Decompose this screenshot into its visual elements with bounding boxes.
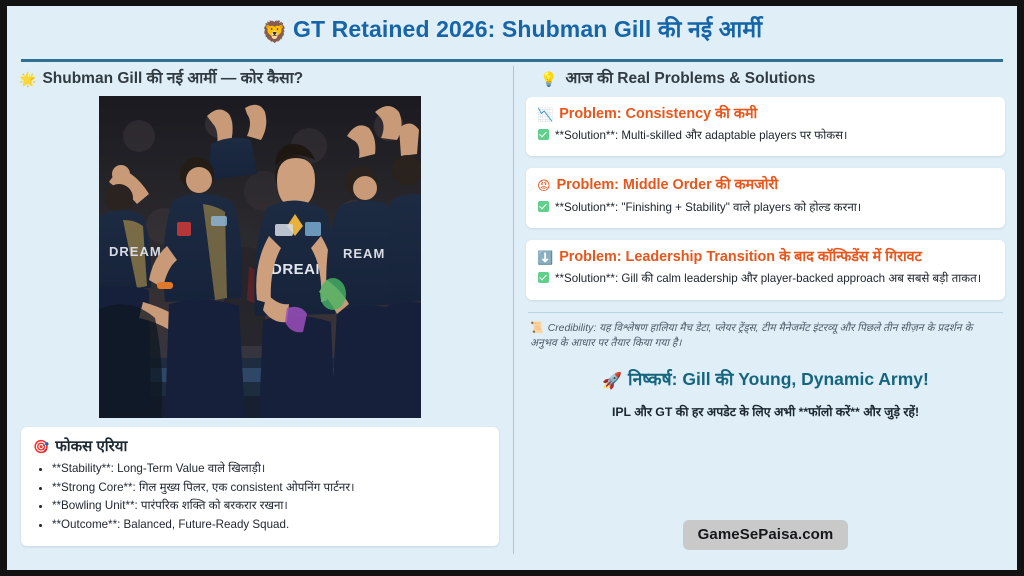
check-icon — [538, 272, 549, 283]
chart-decreasing-icon: 📉 — [537, 107, 553, 122]
conclusion-block: 🚀निष्कर्ष: Gill की Young, Dynamic Army! … — [526, 369, 1005, 421]
rocket-icon: 🚀 — [602, 373, 622, 390]
left-section-heading: 🌟Shubman Gill की नई आर्मी — कोर कैसा? — [19, 70, 503, 89]
arrow-down-icon: ⬇️ — [537, 250, 553, 265]
problem-card: 📉Problem: Consistency की कमी **Solution*… — [526, 97, 1005, 157]
solution-line: **Solution**: Multi-skilled और adaptable… — [537, 127, 993, 144]
team-photo: DREAM — [99, 96, 421, 418]
focus-area-title-text: फोकस एरिया — [55, 438, 127, 455]
credibility-note: 📜Credibility: यह विश्लेषण हालिया मैच डेट… — [526, 320, 1005, 352]
right-section-heading: 💡आज की Real Problems & Solutions — [540, 70, 1005, 89]
focus-area-title: 🎯फोकस एरिया — [33, 436, 487, 456]
solution-text: **Solution**: Multi-skilled और adaptable… — [555, 129, 847, 142]
problem-title-text: Problem: Consistency की कमी — [559, 106, 757, 122]
focus-area-list: **Stability**: Long-Term Value वाले खिला… — [33, 460, 487, 535]
check-icon — [538, 129, 549, 140]
scroll-icon: 📜 — [530, 322, 544, 334]
sun-icon: 🌟 — [19, 71, 36, 87]
svg-text:REAM: REAM — [343, 246, 385, 261]
lightbulb-icon: 💡 — [540, 71, 557, 87]
list-item: **Bowling Unit**: पारंपरिक शक्ति को बरकर… — [52, 497, 487, 516]
problem-title-text: Problem: Middle Order की कमजोरी — [557, 177, 779, 193]
focus-area-card: 🎯फोकस एरिया **Stability**: Long-Term Val… — [21, 427, 499, 546]
footer-badge-wrap: GameSePaisa.com — [514, 520, 1017, 550]
left-column: 🌟Shubman Gill की नई आर्मी — कोर कैसा? — [7, 62, 513, 564]
list-item: **Outcome**: Balanced, Future-Ready Squa… — [52, 516, 487, 535]
credibility-text: Credibility: यह विश्लेषण हालिया मैच डेटा… — [530, 323, 972, 350]
angry-face-icon: 😡 — [537, 178, 551, 193]
check-icon — [538, 201, 549, 212]
body-columns: 🌟Shubman Gill की नई आर्मी — कोर कैसा? — [7, 62, 1017, 564]
follow-cta-text: IPL और GT की हर अपडेट के लिए अभी **फॉलो … — [526, 404, 1005, 421]
svg-text:DREAM: DREAM — [109, 244, 162, 259]
list-item: **Stability**: Long-Term Value वाले खिला… — [52, 460, 487, 479]
solution-line: **Solution**: Gill की calm leadership और… — [537, 270, 993, 287]
problem-title: 😡Problem: Middle Order की कमजोरी — [537, 176, 993, 194]
credibility-divider — [528, 312, 1003, 313]
solution-text: **Solution**: "Finishing + Stability" वा… — [555, 201, 861, 214]
infographic-root: 🦁GT Retained 2026: Shubman Gill की नई आर… — [0, 0, 1024, 576]
site-badge[interactable]: GameSePaisa.com — [683, 520, 849, 550]
list-item: **Strong Core**: गिल मुख्य पिलर, एक cons… — [52, 479, 487, 498]
problem-title: 📉Problem: Consistency की कमी — [537, 105, 993, 123]
page-title-text: GT Retained 2026: Shubman Gill की नई आर्… — [293, 16, 762, 42]
team-photo-image: DREAM — [99, 96, 421, 418]
conclusion-title-text: निष्कर्ष: Gill की Young, Dynamic Army! — [628, 369, 929, 389]
solution-line: **Solution**: "Finishing + Stability" वा… — [537, 199, 993, 216]
left-section-heading-text: Shubman Gill की नई आर्मी — कोर कैसा? — [42, 70, 303, 87]
conclusion-title: 🚀निष्कर्ष: Gill की Young, Dynamic Army! — [526, 369, 1005, 391]
target-icon: 🎯 — [33, 439, 49, 454]
page-title: 🦁GT Retained 2026: Shubman Gill की नई आर… — [7, 16, 1017, 45]
lion-icon: 🦁 — [262, 21, 288, 44]
problem-card: 😡Problem: Middle Order की कमजोरी **Solut… — [526, 168, 1005, 228]
problem-title: ⬇️Problem: Leadership Transition के बाद … — [537, 248, 993, 266]
right-section-heading-text: आज की Real Problems & Solutions — [565, 70, 815, 87]
solution-text: **Solution**: Gill की calm leadership और… — [555, 272, 981, 285]
problem-card: ⬇️Problem: Leadership Transition के बाद … — [526, 240, 1005, 300]
right-column: 💡आज की Real Problems & Solutions 📉Proble… — [514, 62, 1017, 564]
problem-title-text: Problem: Leadership Transition के बाद कॉ… — [559, 249, 922, 265]
title-bar: 🦁GT Retained 2026: Shubman Gill की नई आर… — [7, 6, 1017, 53]
